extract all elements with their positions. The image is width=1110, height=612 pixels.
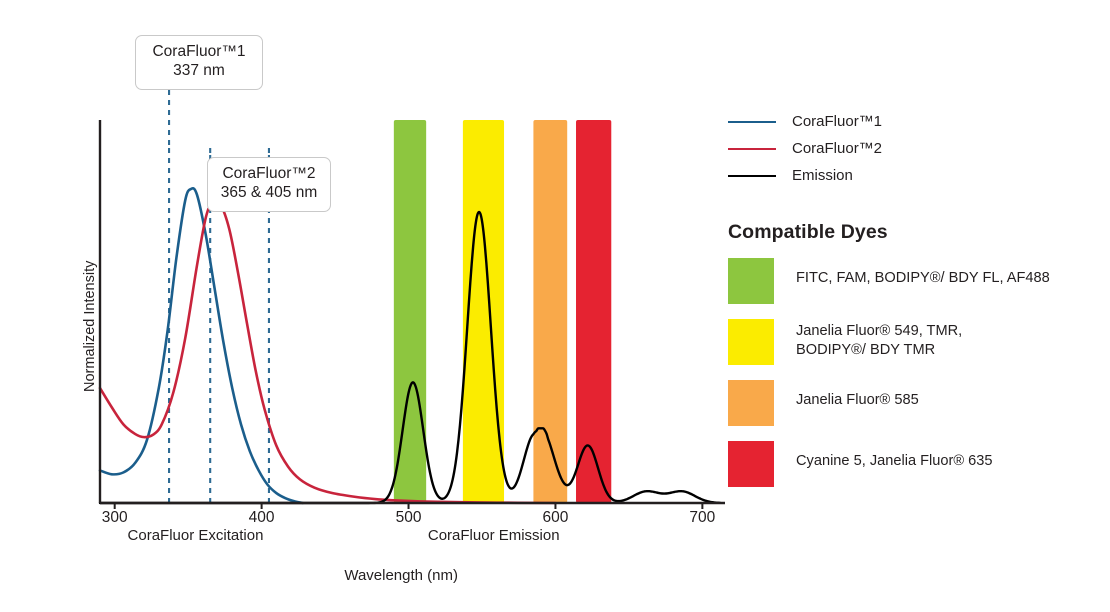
callout-corafluor1-line1: CoraFluor™1 — [148, 43, 250, 62]
legend-label-emission: Emission — [792, 167, 853, 184]
legend-label-corafluor2: CoraFluor™2 — [792, 140, 882, 157]
legend-label-corafluor1: CoraFluor™1 — [792, 113, 882, 130]
dye-item-green: FITC, FAM, BODIPY®/ BDY FL, AF488 — [728, 258, 1100, 304]
legend-item-corafluor2: CoraFluor™2 — [728, 135, 1100, 162]
dye-item-orange: Janelia Fluor® 585 — [728, 380, 1100, 426]
dye-label-green: FITC, FAM, BODIPY®/ BDY FL, AF488 — [796, 258, 1050, 288]
callout-corafluor1-line2: 337 nm — [148, 62, 250, 81]
compatible-dyes-title: Compatible Dyes — [728, 221, 1100, 244]
callout-corafluor2-line2: 365 & 405 nm — [220, 184, 318, 203]
red-band — [576, 120, 611, 503]
x-axis-title: Wavelength (nm) — [251, 567, 551, 584]
legend-item-emission: Emission — [728, 162, 1100, 189]
x-tick-700: 700 — [672, 509, 732, 527]
x-axis-sublabel-emission: CoraFluor Emission — [364, 527, 624, 544]
legend-panel: CoraFluor™1 CoraFluor™2 Emission Compati… — [728, 108, 1100, 502]
x-axis-sublabel-excitation: CoraFluor Excitation — [65, 527, 325, 544]
callout-corafluor2: CoraFluor™2 365 & 405 nm — [207, 157, 331, 212]
x-tick-300: 300 — [85, 509, 145, 527]
dye-swatch-yellow — [728, 319, 774, 365]
dye-label-yellow: Janelia Fluor® 549, TMR, BODIPY®/ BDY TM… — [796, 319, 962, 360]
dye-item-yellow: Janelia Fluor® 549, TMR, BODIPY®/ BDY TM… — [728, 319, 1100, 365]
dye-item-red: Cyanine 5, Janelia Fluor® 635 — [728, 441, 1100, 487]
dye-label-yellow-line1: Janelia Fluor® 549, TMR, — [796, 323, 962, 339]
x-tick-600: 600 — [525, 509, 585, 527]
figure-root: CoraFluor™1 337 nm CoraFluor™2 365 & 405… — [0, 0, 1110, 612]
dye-label-orange: Janelia Fluor® 585 — [796, 380, 919, 410]
y-axis-title: Normalized Intensity — [82, 261, 98, 392]
legend-line-corafluor2 — [728, 148, 776, 150]
x-tick-500: 500 — [379, 509, 439, 527]
legend-line-emission — [728, 175, 776, 177]
green-band — [394, 120, 426, 503]
callout-corafluor1: CoraFluor™1 337 nm — [135, 35, 263, 90]
legend-item-corafluor1: CoraFluor™1 — [728, 108, 1100, 135]
dye-swatch-green — [728, 258, 774, 304]
dye-label-yellow-line2: BODIPY®/ BDY TMR — [796, 342, 935, 358]
dye-label-red: Cyanine 5, Janelia Fluor® 635 — [796, 441, 993, 471]
dye-swatch-orange — [728, 380, 774, 426]
x-tick-400: 400 — [232, 509, 292, 527]
legend-line-corafluor1 — [728, 121, 776, 123]
dye-swatch-red — [728, 441, 774, 487]
callout-corafluor2-line1: CoraFluor™2 — [220, 165, 318, 184]
